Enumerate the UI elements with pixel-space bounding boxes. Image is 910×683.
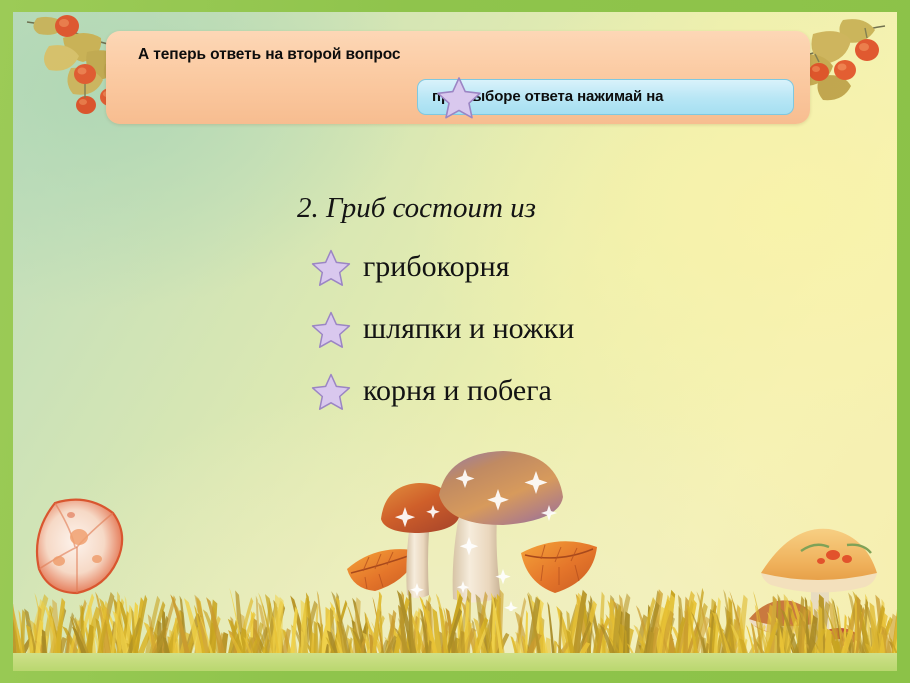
answer-option-label: грибокорня <box>363 250 510 284</box>
autumn-grass-strip <box>13 583 897 671</box>
answer-option-label: корня и побега <box>363 374 552 408</box>
star-icon <box>436 75 482 119</box>
header-callout-box: А теперь ответь на второй вопрос при выб… <box>106 31 810 124</box>
star-icon[interactable] <box>311 310 351 348</box>
grass-base-strip <box>13 653 897 671</box>
slide-frame: А теперь ответь на второй вопрос при выб… <box>0 0 910 683</box>
answer-option-label: шляпки и ножки <box>363 312 574 346</box>
slide-canvas: А теперь ответь на второй вопрос при выб… <box>13 12 897 671</box>
header-prompt-text: А теперь ответь на второй вопрос <box>138 46 400 64</box>
answer-option-0[interactable]: грибокорня <box>311 248 510 286</box>
star-icon[interactable] <box>311 248 351 286</box>
star-icon[interactable] <box>311 372 351 410</box>
answer-option-2[interactable]: корня и побега <box>311 372 552 410</box>
answer-option-1[interactable]: шляпки и ножки <box>311 310 574 348</box>
question-text: 2. Гриб состоит из <box>297 192 536 225</box>
